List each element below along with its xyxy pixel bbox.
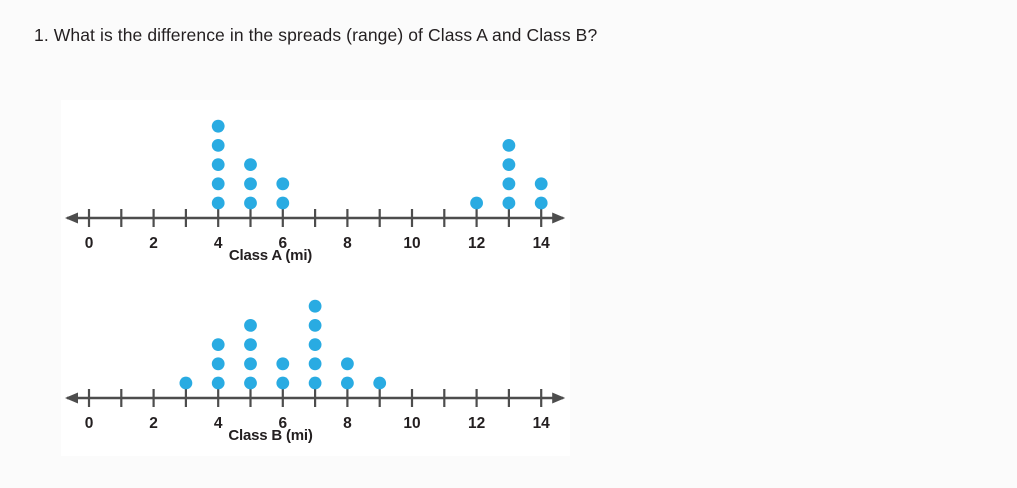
data-dot: [309, 319, 322, 332]
data-dot: [373, 377, 386, 390]
data-dot: [212, 338, 225, 351]
data-dot: [535, 197, 548, 210]
data-dot: [309, 300, 322, 313]
data-dot: [341, 357, 354, 370]
data-dot: [535, 177, 548, 190]
data-dot: [503, 158, 516, 171]
data-dot: [212, 357, 225, 370]
data-dot: [276, 377, 289, 390]
data-dot: [244, 197, 257, 210]
data-dot: [276, 357, 289, 370]
axis-arrow-right: [552, 393, 565, 404]
data-dot: [503, 177, 516, 190]
data-dot: [309, 338, 322, 351]
data-dot: [309, 377, 322, 390]
data-dot: [212, 377, 225, 390]
data-dot: [180, 377, 193, 390]
data-dot: [212, 177, 225, 190]
data-dot: [341, 377, 354, 390]
data-dot: [244, 319, 257, 332]
dot-plot-class-b-xlabel: Class B (mi): [16, 427, 525, 444]
data-dot: [276, 197, 289, 210]
data-dot: [276, 177, 289, 190]
data-dot: [244, 338, 257, 351]
data-dot: [244, 158, 257, 171]
data-dot: [503, 139, 516, 152]
question-text: 1. What is the difference in the spreads…: [34, 25, 597, 46]
dot-plot-class-b: 02468101214 Class B (mi): [61, 282, 570, 452]
axis-tick-label: 14: [533, 415, 551, 432]
axis-arrow-left: [65, 213, 78, 224]
dot-plot-class-a: 02468101214 Class A (mi): [61, 102, 570, 272]
data-dot: [309, 357, 322, 370]
dot-plot-class-a-xlabel: Class A (mi): [16, 247, 525, 264]
data-dot: [212, 120, 225, 133]
axis-tick-label: 14: [533, 235, 551, 252]
axis-arrow-left: [65, 393, 78, 404]
data-dot: [244, 177, 257, 190]
data-dot: [244, 357, 257, 370]
data-dot: [212, 197, 225, 210]
data-dot: [244, 377, 257, 390]
figure-panel: 02468101214 Class A (mi) 02468101214 Cla…: [61, 100, 570, 456]
data-dot: [503, 197, 516, 210]
data-dot: [212, 139, 225, 152]
data-dot: [212, 158, 225, 171]
axis-arrow-right: [552, 213, 565, 224]
data-dot: [470, 197, 483, 210]
